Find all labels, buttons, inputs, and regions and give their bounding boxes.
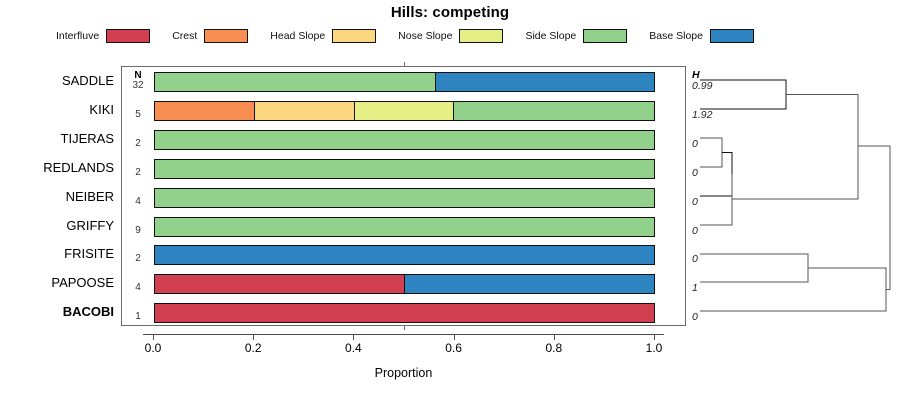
n-value: 2	[124, 167, 152, 178]
x-axis-tick-label: 1.0	[629, 341, 679, 355]
y-axis-label-papoose: PAPOOSE	[0, 275, 114, 290]
n-value: 9	[124, 225, 152, 236]
x-axis-tick	[554, 334, 555, 340]
bar-row: 1	[122, 299, 685, 328]
bar-row: 4	[122, 184, 685, 213]
legend-item-label: Side Slope	[525, 30, 576, 42]
dendro-link-frisite-papoose	[700, 254, 808, 282]
y-axis-label-bacobi: BACOBI	[0, 304, 114, 319]
y-axis-label-neiber: NEIBER	[0, 189, 114, 204]
x-axis-tick	[153, 334, 154, 340]
legend-item: Head Slope	[270, 29, 376, 43]
y-axis-label-redlands: REDLANDS	[0, 160, 114, 175]
stacked-bar[interactable]	[154, 159, 655, 179]
bar-segment[interactable]	[155, 131, 654, 149]
legend-swatch	[106, 29, 150, 43]
x-axis-tick	[654, 334, 655, 340]
stacked-bar[interactable]	[154, 245, 655, 265]
dendrogram-svg	[690, 60, 900, 332]
n-value: 1	[124, 311, 152, 322]
chart-root: Hills: competing InterfluveCrestHead Slo…	[0, 0, 900, 400]
bar-row: 4	[122, 270, 685, 299]
legend-item-label: Interfluve	[56, 30, 99, 42]
stacked-bar[interactable]	[154, 72, 655, 92]
bar-row: 2	[122, 241, 685, 270]
dendro-link-tr-neiber	[700, 153, 732, 197]
bar-row: 32	[122, 68, 685, 97]
stacked-bar[interactable]	[154, 188, 655, 208]
dendro-link-upper-merge	[732, 95, 858, 200]
bar-segment[interactable]	[155, 189, 654, 207]
plot-panel: N 3252249241	[121, 66, 686, 326]
bar-segment[interactable]	[155, 304, 654, 322]
bar-segment[interactable]	[155, 218, 654, 236]
x-axis-tick-label: 0.8	[529, 341, 579, 355]
legend-swatch	[710, 29, 754, 43]
stacked-bar[interactable]	[154, 130, 655, 150]
dendrogram	[690, 60, 900, 332]
legend-swatch	[459, 29, 503, 43]
x-axis-title: Proportion	[121, 366, 686, 380]
n-value: 2	[124, 253, 152, 264]
dendro-link-tijeras-redlands	[700, 138, 722, 167]
legend-swatch	[332, 29, 376, 43]
bar-segment[interactable]	[454, 102, 654, 120]
bar-rows: 3252249241	[122, 67, 685, 325]
bar-row: 2	[122, 126, 685, 155]
legend-item: Side Slope	[525, 29, 627, 43]
bar-segment[interactable]	[155, 102, 255, 120]
bar-segment[interactable]	[155, 73, 436, 91]
stacked-bar[interactable]	[154, 274, 655, 294]
legend-item-label: Crest	[172, 30, 197, 42]
n-value: 4	[124, 282, 152, 293]
bar-segment[interactable]	[436, 73, 654, 91]
x-axis-tick-label: 0.0	[128, 341, 178, 355]
stacked-bar[interactable]	[154, 101, 655, 121]
bar-row: 5	[122, 97, 685, 126]
x-axis-tick-label: 0.2	[228, 341, 278, 355]
dendro-link-trn-griffy	[700, 174, 732, 225]
y-axis-label-griffy: GRIFFY	[0, 218, 114, 233]
dendro-link-fp-bacobi	[700, 268, 886, 311]
x-axis-tick-label: 0.6	[429, 341, 479, 355]
bar-segment[interactable]	[355, 102, 455, 120]
y-axis-label-saddle: SADDLE	[0, 73, 114, 88]
n-value: 4	[124, 196, 152, 207]
bar-segment[interactable]	[155, 246, 654, 264]
y-axis-label-tijeras: TIJERAS	[0, 131, 114, 146]
bar-row: 9	[122, 213, 685, 242]
dendro-link-saddle-kiki	[700, 80, 786, 109]
y-axis-label-kiki: KIKI	[0, 102, 114, 117]
x-axis-tick	[454, 334, 455, 340]
chart-legend: InterfluveCrestHead SlopeNose SlopeSide …	[56, 27, 846, 45]
stacked-bar[interactable]	[154, 217, 655, 237]
x-axis-tick-label: 0.4	[328, 341, 378, 355]
bar-segment[interactable]	[255, 102, 355, 120]
legend-item-label: Nose Slope	[398, 30, 452, 42]
legend-item: Interfluve	[56, 29, 150, 43]
legend-swatch	[583, 29, 627, 43]
legend-item: Nose Slope	[398, 29, 503, 43]
n-value: 32	[124, 80, 152, 91]
stacked-bar[interactable]	[154, 303, 655, 323]
x-axis-tick	[353, 334, 354, 340]
bar-row: 2	[122, 155, 685, 184]
bar-segment[interactable]	[405, 275, 655, 293]
bar-segment[interactable]	[155, 160, 654, 178]
legend-item: Base Slope	[649, 29, 754, 43]
y-axis-label-frisite: FRISITE	[0, 246, 114, 261]
legend-item-label: Head Slope	[270, 30, 325, 42]
n-value: 5	[124, 109, 152, 120]
x-axis-line	[143, 334, 664, 335]
n-value: 2	[124, 138, 152, 149]
legend-item-label: Base Slope	[649, 30, 703, 42]
x-axis-tick	[253, 334, 254, 340]
legend-item: Crest	[172, 29, 248, 43]
bar-segment[interactable]	[155, 275, 405, 293]
chart-title: Hills: competing	[0, 4, 900, 21]
legend-swatch	[204, 29, 248, 43]
